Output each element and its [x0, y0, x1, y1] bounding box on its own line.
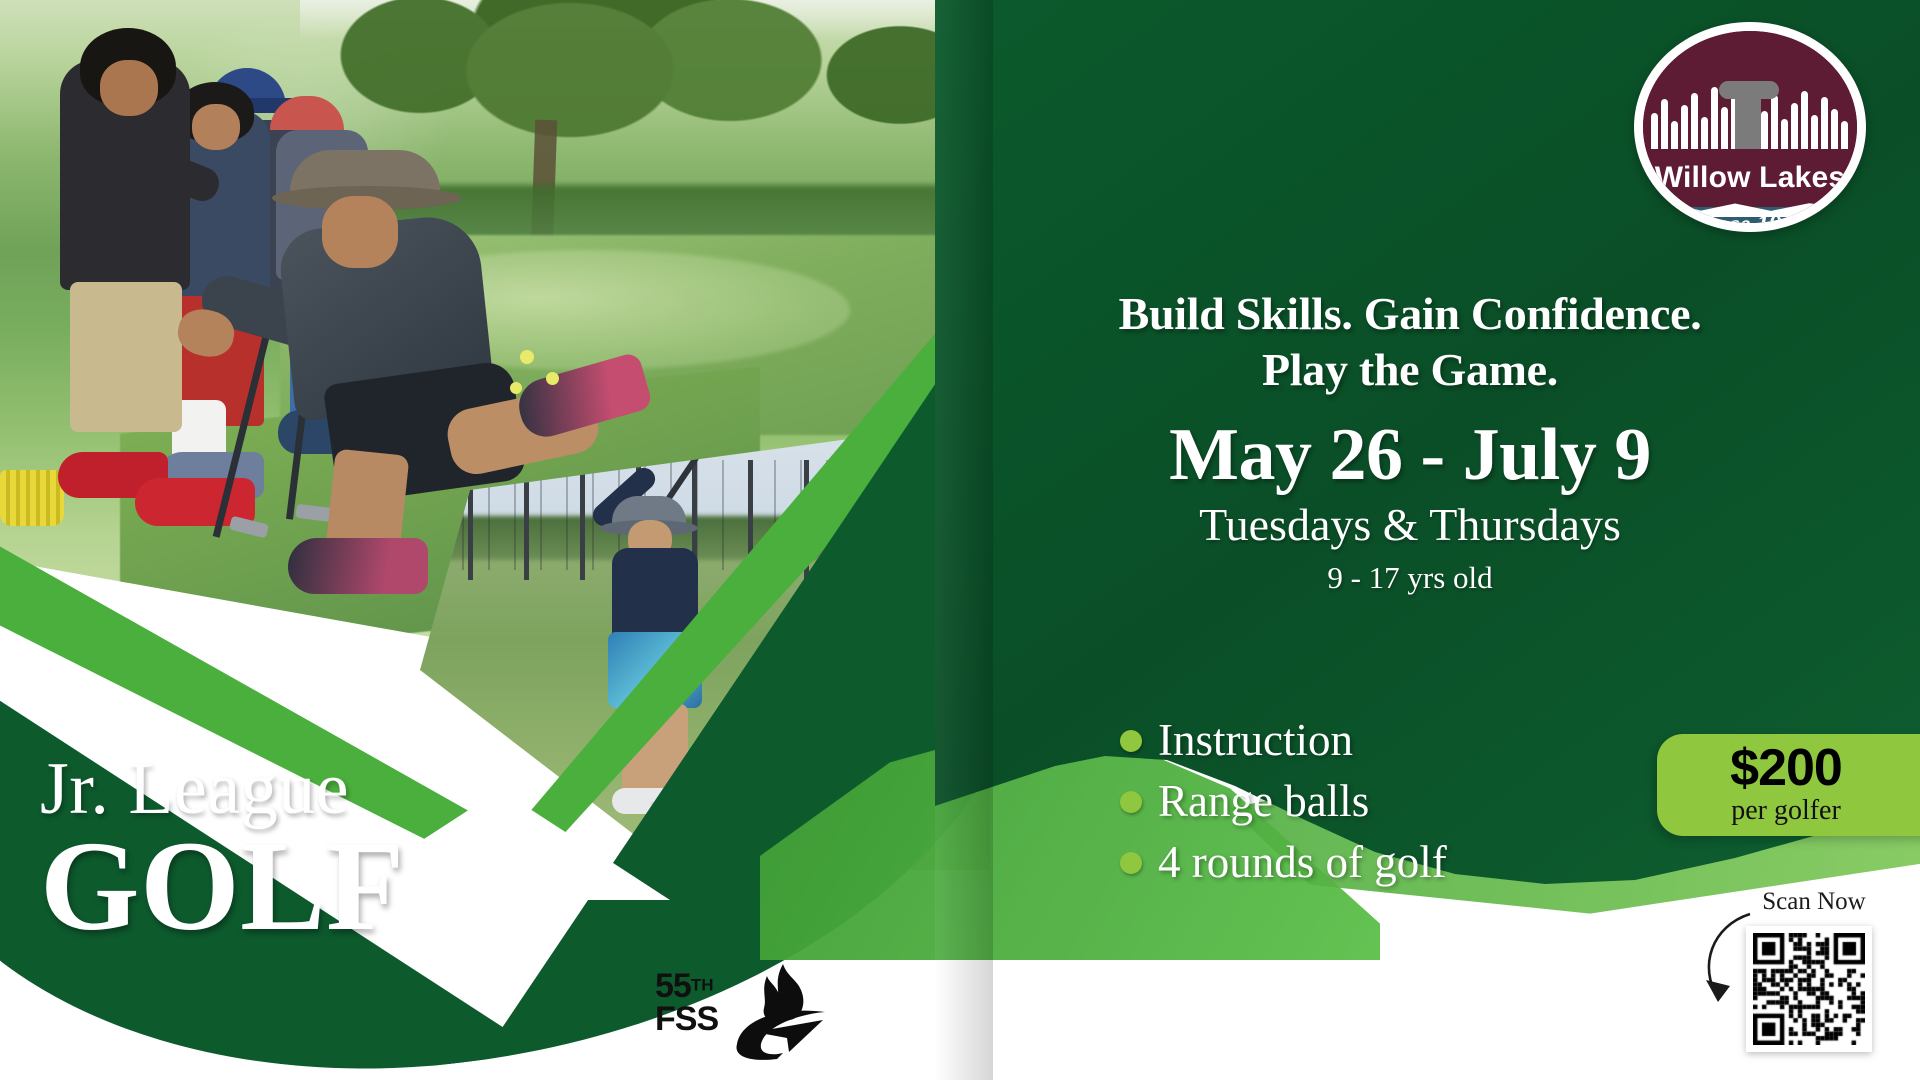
- date-ages: 9 - 17 yrs old: [1000, 558, 1820, 598]
- qr-code-image: [1753, 933, 1865, 1045]
- photo-junior-2-face: [192, 104, 240, 150]
- willow-lakes-logo[interactable]: Willow Lakes Since 1963: [1634, 22, 1866, 232]
- bullet-dot-icon: [1120, 730, 1142, 752]
- date-range: May 26 - July 9: [1000, 418, 1820, 493]
- photo-junior-1-face: [100, 60, 158, 116]
- photo-junior-1-legs: [70, 282, 182, 432]
- page-title: Jr. League GOLF: [40, 752, 405, 949]
- photo-ball-basket-yellow: [0, 470, 64, 526]
- feature-label: Range balls: [1158, 779, 1369, 824]
- list-item: 4 rounds of golf: [1120, 840, 1447, 885]
- fss-logo: 55TH FSS: [655, 960, 845, 1060]
- logo-name: Willow Lakes: [1655, 161, 1846, 195]
- fss-flame-swoosh-icon: [727, 960, 847, 1060]
- photo-coach-shoe-left: [288, 538, 428, 594]
- price-unit: per golfer: [1731, 796, 1841, 827]
- photo-range-ball: [510, 382, 522, 394]
- title-line-2: GOLF: [40, 824, 405, 949]
- headline-line-2: Play the Game.: [1000, 342, 1820, 398]
- poster-canvas: Willow Lakes Since 1963 Build Skills. Ga…: [0, 0, 1920, 1080]
- headline-line-1: Build Skills. Gain Confidence.: [1000, 286, 1820, 342]
- logo-inner: Willow Lakes Since 1963: [1643, 31, 1857, 223]
- list-item: Instruction: [1120, 718, 1447, 763]
- feature-label: Instruction: [1158, 718, 1353, 763]
- panel-edge: [935, 0, 993, 1080]
- logo-tagline: Since 1963: [1643, 207, 1857, 223]
- fss-abbreviation: FSS: [655, 1003, 718, 1036]
- photo-net-pole: [580, 460, 585, 580]
- photo-swing-torso: [612, 548, 698, 640]
- photo-coach-face: [322, 196, 398, 268]
- logo-name-band: Willow Lakes: [1643, 149, 1857, 207]
- bullet-dot-icon: [1120, 791, 1142, 813]
- feature-list: Instruction Range balls 4 rounds of golf: [1120, 718, 1447, 901]
- date-days: Tuesdays & Thursdays: [1000, 497, 1820, 553]
- qr-scan-block[interactable]: Scan Now: [1716, 900, 1896, 1060]
- photo-range-ball: [546, 372, 559, 385]
- price-amount: $200: [1730, 743, 1842, 794]
- fss-ordinal: TH: [691, 976, 714, 995]
- feature-label: 4 rounds of golf: [1158, 840, 1447, 885]
- fss-wordmark: 55TH FSS: [655, 970, 718, 1035]
- price-badge: $200 per golfer: [1657, 734, 1920, 836]
- bullet-dot-icon: [1120, 852, 1142, 874]
- list-item: Range balls: [1120, 779, 1447, 824]
- photo-range-ball: [520, 350, 534, 364]
- qr-code[interactable]: [1746, 926, 1872, 1052]
- date-block: May 26 - July 9 Tuesdays & Thursdays 9 -…: [1000, 418, 1820, 598]
- headline: Build Skills. Gain Confidence. Play the …: [1000, 286, 1820, 398]
